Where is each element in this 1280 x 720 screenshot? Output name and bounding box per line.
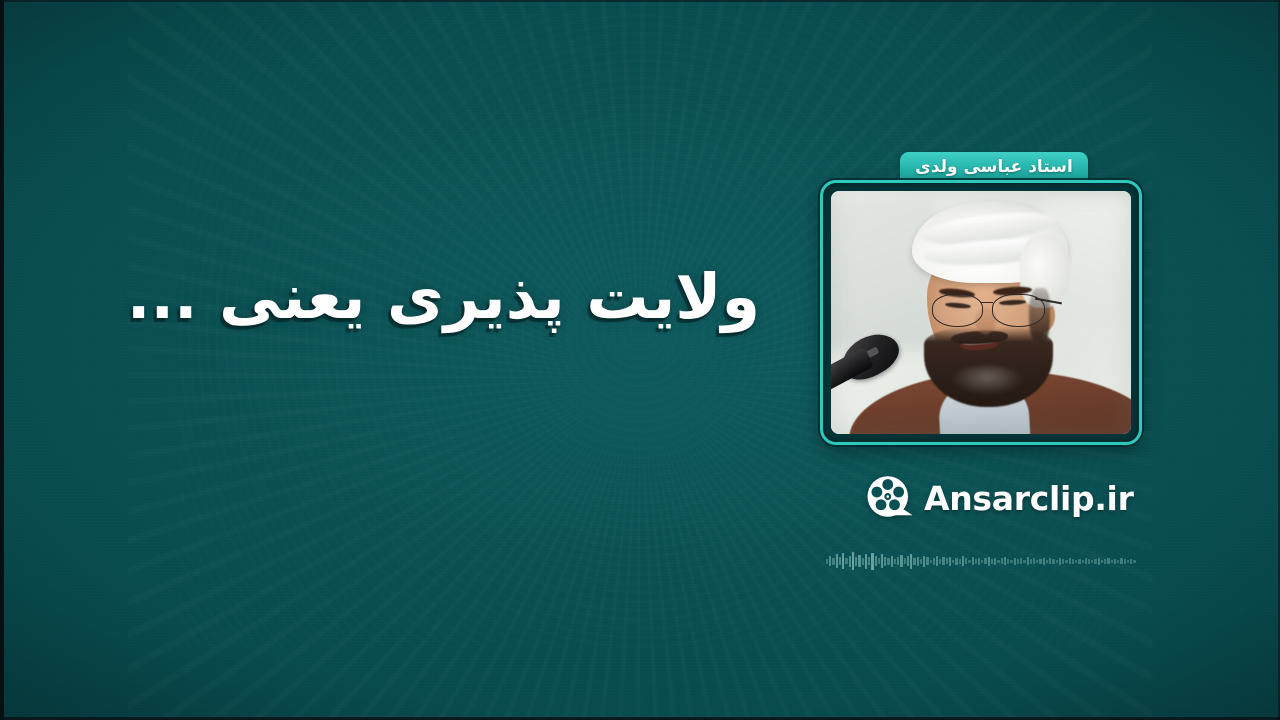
waveform-bar: [829, 556, 831, 566]
waveform-bar: [1069, 558, 1071, 564]
waveform-bar: [1075, 560, 1077, 563]
waveform-bar: [897, 557, 899, 565]
waveform-bar: [913, 558, 915, 565]
waveform-bar: [981, 560, 983, 563]
waveform-bar: [1023, 560, 1025, 563]
waveform-bar: [868, 557, 870, 565]
speaker-portrait: [831, 191, 1131, 434]
waveform-bar: [1101, 560, 1103, 563]
waveform-bar: [997, 560, 999, 563]
waveform-bar: [910, 554, 912, 569]
waveform-bar: [1078, 559, 1080, 564]
waveform-bar: [858, 555, 860, 567]
waveform-bar: [978, 558, 980, 565]
waveform-bar: [836, 554, 838, 568]
waveform-bar: [994, 558, 996, 565]
waveform-bar: [852, 552, 854, 570]
waveform-bar: [1065, 560, 1067, 563]
waveform-bar: [962, 556, 964, 566]
waveform-bar: [1007, 559, 1009, 564]
portrait-glasses-lens-left: [932, 294, 984, 326]
waveform-bar: [1133, 560, 1135, 563]
waveform-bar: [959, 559, 961, 564]
waveform-bar: [849, 556, 851, 567]
waveform-bar: [939, 559, 941, 564]
waveform-bar: [862, 558, 864, 565]
waveform-bar: [1043, 558, 1045, 565]
waveform-bar: [936, 556, 938, 566]
waveform-bar: [1004, 557, 1006, 565]
headline-text: ولایت پذیری یعنی ...: [160, 262, 760, 331]
waveform-bar: [946, 558, 948, 564]
speaker-photo-frame: [820, 180, 1142, 445]
watermark-label: Ansarclip.ir: [924, 479, 1134, 518]
waveform-bar: [952, 560, 954, 563]
waveform-bar: [1017, 559, 1019, 564]
waveform-bar: [1010, 560, 1012, 563]
portrait-beard-grey-patch: [951, 366, 1023, 395]
waveform-bar: [975, 559, 977, 564]
waveform-bar: [1130, 559, 1132, 564]
waveform-bar: [1098, 558, 1100, 565]
waveform-bar: [923, 556, 925, 567]
waveform-bar: [1049, 558, 1051, 564]
waveform-bar: [930, 560, 932, 563]
waveform-bar: [1046, 560, 1048, 563]
waveform-bar: [894, 559, 896, 564]
frame-edge-top: [0, 0, 1280, 2]
video-frame: ولایت پذیری یعنی ... استاد عباسی ولدی: [0, 0, 1280, 720]
waveform-bar: [839, 557, 841, 565]
waveform-bar: [1085, 558, 1087, 564]
waveform-bar: [904, 558, 906, 564]
waveform-bar: [855, 557, 857, 566]
waveform-bar: [832, 558, 834, 565]
waveform-bar: [871, 553, 873, 570]
waveform-bar: [865, 554, 867, 569]
waveform-bar: [1059, 558, 1061, 565]
waveform-bar: [917, 557, 919, 566]
waveform-bar: [1027, 557, 1029, 565]
portrait-glasses-bridge: [980, 302, 994, 304]
waveform-bar: [1111, 560, 1113, 563]
waveform-bar: [1001, 558, 1003, 564]
waveform-bar: [955, 558, 957, 565]
waveform-bar: [1072, 559, 1074, 564]
waveform-bar: [1114, 559, 1116, 564]
watermark: Ansarclip.ir: [866, 474, 1134, 522]
waveform-bar: [920, 559, 922, 564]
waveform-bar: [1117, 560, 1119, 563]
waveform-bar: [1091, 560, 1093, 563]
waveform-bar: [875, 556, 877, 566]
waveform-bar: [972, 557, 974, 565]
waveform-bar: [1030, 559, 1032, 564]
waveform-bar: [1094, 559, 1096, 564]
waveform-bar: [1014, 558, 1016, 565]
waveform-bar: [891, 556, 893, 567]
waveform-bar: [842, 553, 844, 569]
waveform-bar: [1120, 558, 1122, 564]
frame-edge-left: [0, 0, 4, 720]
waveform-bar: [1062, 559, 1064, 564]
waveform-bar: [988, 557, 990, 566]
waveform-bar: [826, 559, 828, 564]
waveform-bar: [1039, 559, 1041, 564]
waveform-bar: [991, 559, 993, 564]
waveform-bar: [984, 558, 986, 564]
film-reel-icon: [866, 474, 914, 522]
waveform-bar: [933, 558, 935, 565]
waveform-bar: [1107, 558, 1109, 564]
waveform-bar: [926, 557, 928, 565]
waveform-bar: [1052, 559, 1054, 564]
waveform-bar: [1036, 560, 1038, 563]
waveform-bar: [878, 558, 880, 564]
waveform-bar: [1127, 560, 1129, 563]
waveform-bar: [1056, 560, 1058, 563]
waveform-bar: [1020, 558, 1022, 564]
waveform-bar: [1104, 559, 1106, 564]
waveform-bar: [1124, 559, 1126, 564]
audio-waveform: [826, 551, 1136, 571]
waveform-bar: [1033, 558, 1035, 564]
waveform-bar: [881, 554, 883, 568]
waveform-bar: [887, 558, 889, 565]
waveform-bar: [968, 560, 970, 563]
waveform-bar: [900, 555, 902, 567]
waveform-bar: [949, 557, 951, 566]
waveform-bar: [1088, 559, 1090, 564]
waveform-bar: [965, 558, 967, 564]
waveform-bar: [942, 557, 944, 565]
waveform-bar: [845, 558, 847, 564]
waveform-bar: [907, 556, 909, 566]
waveform-bar: [884, 557, 886, 566]
waveform-bar: [1082, 560, 1084, 563]
